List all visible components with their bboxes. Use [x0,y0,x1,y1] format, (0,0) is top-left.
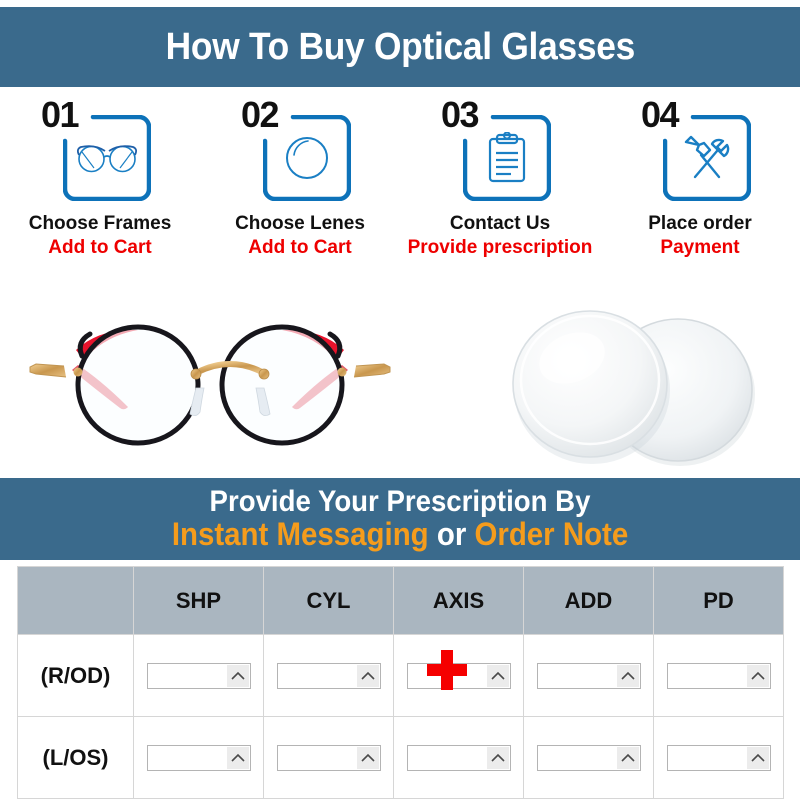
step-02-label: Choose Lenes [235,213,365,235]
chevron-up-icon[interactable] [747,747,769,769]
chevron-up-icon[interactable] [227,747,249,769]
step-04-sublabel: Payment [660,237,739,259]
header-cell-axis: AXIS [394,567,524,635]
step-item-04: 04 Place order Payment [600,95,800,290]
order-note-text: Order Note [474,516,628,552]
cell-inner [134,663,263,689]
top-banner: How To Buy Optical Glasses [0,7,800,87]
prescription-banner-line2: Instant Messaging or Order Note [172,518,628,552]
step-02-number: 02 [241,97,280,133]
table-row-left-eye: (L/OS) [18,717,784,799]
cell-inner [264,663,393,689]
select-right-add[interactable] [537,663,641,689]
row-label-right-eye-text: (R/OD) [18,663,133,689]
header-cell-add: ADD [524,567,654,635]
step-03-sublabel: Provide prescription [408,237,593,259]
cell-right-add[interactable] [524,635,654,717]
step-01-sublabel: Add to Cart [48,237,151,259]
cell-left-shp[interactable] [134,717,264,799]
cell-inner [524,663,653,689]
prescription-table-head: SHP CYL AXIS ADD PD [18,567,784,635]
header-cell-pd: PD [654,567,784,635]
select-right-pd[interactable] [667,663,771,689]
prescription-table: SHP CYL AXIS ADD PD (R/OD) [17,566,784,799]
chevron-up-icon[interactable] [487,665,509,687]
select-left-cyl[interactable] [277,745,381,771]
select-left-shp[interactable] [147,745,251,771]
product-row [0,292,800,474]
cell-left-cyl[interactable] [264,717,394,799]
table-header-row: SHP CYL AXIS ADD PD [18,567,784,635]
step-02-icon-wrap: 02 [241,97,359,203]
chevron-up-icon[interactable] [747,665,769,687]
cell-inner [134,745,263,771]
chevron-up-icon[interactable] [617,665,639,687]
row-label-left-eye-text: (L/OS) [18,745,133,771]
cell-left-pd[interactable] [654,717,784,799]
cell-left-add[interactable] [524,717,654,799]
step-04-icon-wrap: 04 [641,97,759,203]
step-item-01: 01 Choose Frames Add [0,95,200,290]
conjunction-text: or [429,516,475,552]
step-03-number: 03 [441,97,480,133]
step-01-label: Choose Frames [29,213,172,235]
step-item-02: 02 Choose Lenes Add to Cart [200,95,400,290]
chevron-up-icon[interactable] [617,747,639,769]
row-label-right-eye: (R/OD) [18,635,134,717]
steps-row: 01 Choose Frames Add [0,95,800,290]
chevron-up-icon[interactable] [227,665,249,687]
bottom-banner: Provide Your Prescription By Instant Mes… [0,478,800,560]
step-item-03: 03 Contact Us Provide [400,95,600,290]
page-title: How To Buy Optical Glasses [165,28,634,66]
step-02-sublabel: Add to Cart [248,237,351,259]
table-row-right-eye: (R/OD) [18,635,784,717]
cell-inner [394,745,523,771]
step-04-label: Place order [648,213,752,235]
chevron-up-icon[interactable] [357,665,379,687]
header-cell-blank [18,567,134,635]
cell-right-pd[interactable] [654,635,784,717]
instant-messaging-text: Instant Messaging [172,516,429,552]
cell-inner [524,745,653,771]
step-03-icon-wrap: 03 [441,97,559,203]
step-01-number: 01 [41,97,80,133]
chevron-up-icon[interactable] [487,747,509,769]
cell-right-shp[interactable] [134,635,264,717]
chevron-up-icon[interactable] [357,747,379,769]
select-left-add[interactable] [537,745,641,771]
step-04-number: 04 [641,97,680,133]
header-cell-cyl: CYL [264,567,394,635]
header-cell-shp: SHP [134,567,264,635]
select-left-axis[interactable] [407,745,511,771]
plus-icon [424,647,470,693]
infographic-page: How To Buy Optical Glasses 01 [0,0,800,800]
row-label-left-eye: (L/OS) [18,717,134,799]
cell-left-axis[interactable] [394,717,524,799]
prescription-banner-line1: Provide Your Prescription By [210,486,591,518]
cell-inner [264,745,393,771]
prescription-table-body: (R/OD) [18,635,784,799]
select-left-pd[interactable] [667,745,771,771]
cell-right-cyl[interactable] [264,635,394,717]
select-right-cyl[interactable] [277,663,381,689]
cell-inner [654,745,783,771]
cell-inner [654,663,783,689]
eyeglasses-product-image [20,300,400,465]
optical-lenses-product-image [480,294,800,474]
select-right-shp[interactable] [147,663,251,689]
step-03-label: Contact Us [450,213,550,235]
step-01-icon-wrap: 01 [41,97,159,203]
